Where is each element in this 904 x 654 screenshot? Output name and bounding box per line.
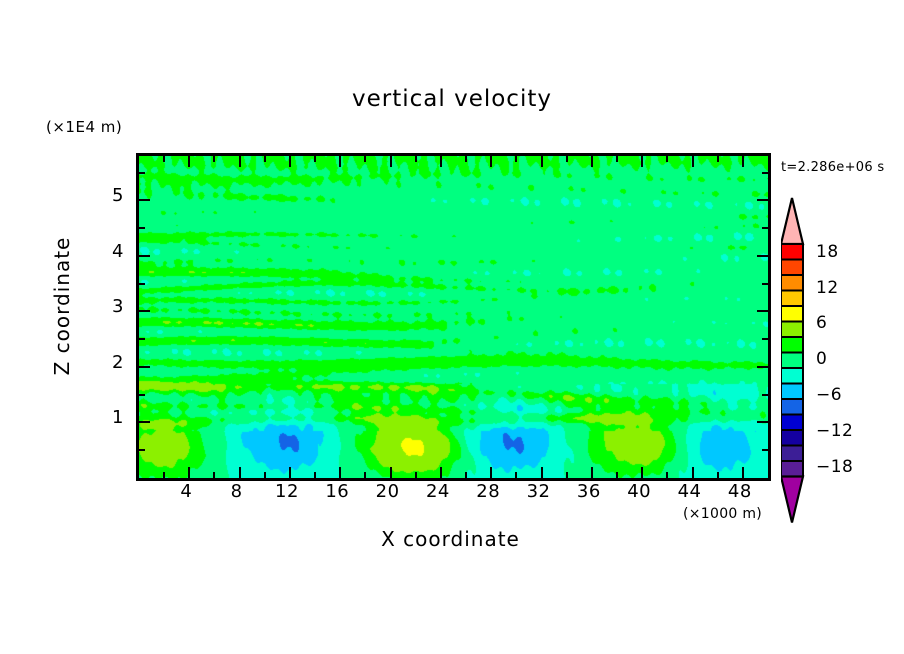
x-tick-major (742, 156, 744, 167)
x-tick-minor (314, 156, 316, 162)
x-tick-minor (163, 156, 165, 162)
y-tick-major (139, 421, 150, 423)
x-tick-major (591, 156, 593, 167)
z-axis-unit-label: (×1E4 m) (46, 118, 122, 136)
x-tick-major (490, 467, 492, 478)
y-tick-minor (139, 283, 145, 285)
x-tick-minor (415, 156, 417, 162)
y-tick-minor (762, 338, 768, 340)
x-tick-major (440, 467, 442, 478)
x-tick-label: 16 (314, 481, 360, 502)
x-tick-minor (717, 472, 719, 478)
y-axis-title: Z coordinate (50, 226, 74, 386)
x-tick-major (239, 467, 241, 478)
colorbar-tick-label: −6 (816, 385, 842, 405)
x-tick-label: 48 (717, 481, 763, 502)
y-tick-minor (762, 449, 768, 451)
y-tick-minor (762, 283, 768, 285)
y-tick-minor (762, 394, 768, 396)
x-tick-major (188, 467, 190, 478)
colorbar-tick-label: 6 (816, 313, 827, 333)
y-tick-major (139, 199, 150, 201)
y-tick-major (757, 421, 768, 423)
x-tick-label: 12 (264, 481, 310, 502)
y-tick-minor (139, 338, 145, 340)
x-tick-label: 8 (214, 481, 260, 502)
x-tick-major (742, 467, 744, 478)
x-tick-minor (666, 472, 668, 478)
x-tick-major (692, 156, 694, 167)
y-tick-minor (762, 172, 768, 174)
x-tick-major (641, 467, 643, 478)
x-tick-minor (515, 156, 517, 162)
y-tick-major (757, 255, 768, 257)
colorbar-tick-label: −12 (816, 421, 853, 441)
x-tick-minor (213, 472, 215, 478)
x-tick-major (641, 156, 643, 167)
x-tick-minor (666, 156, 668, 162)
x-tick-major (541, 467, 543, 478)
x-tick-minor (566, 472, 568, 478)
colorbar-tick-label: 12 (816, 278, 839, 298)
y-tick-minor (762, 227, 768, 229)
x-tick-minor (566, 156, 568, 162)
x-tick-label: 40 (616, 481, 662, 502)
page-title: vertical velocity (0, 86, 904, 112)
x-tick-major (239, 156, 241, 167)
time-stamp-label: t=2.286e+06 s (781, 160, 884, 175)
y-tick-minor (139, 449, 145, 451)
y-tick-minor (139, 394, 145, 396)
x-tick-minor (364, 156, 366, 162)
x-tick-minor (465, 472, 467, 478)
x-tick-major (692, 467, 694, 478)
y-tick-major (139, 366, 150, 368)
x-tick-major (339, 467, 341, 478)
y-tick-major (757, 310, 768, 312)
contour-field (139, 156, 768, 478)
x-tick-minor (364, 472, 366, 478)
x-tick-label: 28 (465, 481, 511, 502)
y-tick-label: 5 (96, 185, 124, 206)
y-tick-minor (139, 227, 145, 229)
x-tick-label: 4 (163, 481, 209, 502)
x-tick-label: 44 (667, 481, 713, 502)
x-tick-minor (415, 472, 417, 478)
x-tick-major (289, 467, 291, 478)
x-tick-minor (465, 156, 467, 162)
x-tick-major (289, 156, 291, 167)
x-tick-major (390, 467, 392, 478)
x-axis-title: X coordinate (136, 527, 765, 551)
y-tick-major (139, 310, 150, 312)
colorbar-tick-label: −18 (816, 457, 853, 477)
x-tick-label: 36 (566, 481, 612, 502)
y-tick-label: 3 (96, 296, 124, 317)
x-tick-major (490, 156, 492, 167)
x-tick-minor (314, 472, 316, 478)
y-tick-minor (139, 172, 145, 174)
y-tick-label: 2 (96, 352, 124, 373)
y-tick-label: 4 (96, 241, 124, 262)
x-tick-major (440, 156, 442, 167)
y-tick-label: 1 (96, 407, 124, 428)
y-tick-major (139, 255, 150, 257)
x-tick-minor (616, 472, 618, 478)
colorbar-tick-label: 0 (816, 349, 827, 369)
x-tick-minor (213, 156, 215, 162)
x-tick-major (188, 156, 190, 167)
x-tick-minor (717, 156, 719, 162)
figure-root: vertical velocity (×1E4 m) t=2.286e+06 s… (0, 0, 904, 654)
y-tick-major (757, 366, 768, 368)
x-tick-major (541, 156, 543, 167)
x-tick-minor (163, 472, 165, 478)
x-tick-label: 20 (365, 481, 411, 502)
x-tick-minor (616, 156, 618, 162)
x-tick-minor (515, 472, 517, 478)
x-tick-minor (264, 472, 266, 478)
x-tick-minor (264, 156, 266, 162)
x-tick-major (339, 156, 341, 167)
colorbar-tick-label: 18 (816, 242, 839, 262)
x-tick-label: 24 (415, 481, 461, 502)
plot-area (136, 153, 771, 481)
colorbar (781, 196, 811, 526)
x-tick-major (390, 156, 392, 167)
x-tick-label: 32 (516, 481, 562, 502)
y-tick-major (757, 199, 768, 201)
x-axis-unit-label: (×1000 m) (683, 506, 762, 522)
x-tick-major (591, 467, 593, 478)
